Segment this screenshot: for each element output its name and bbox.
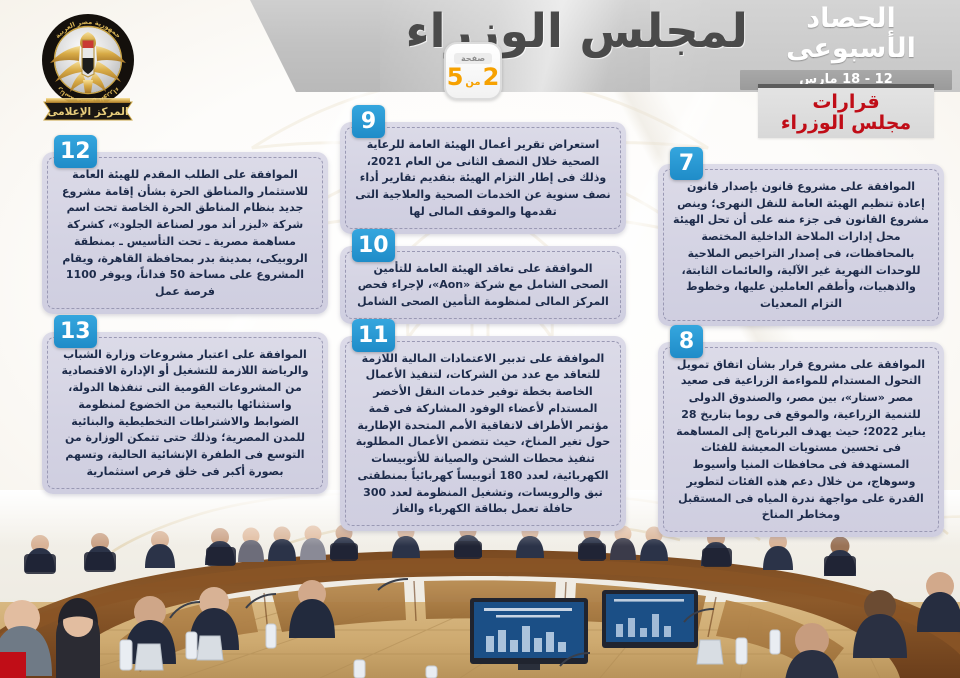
card-number-badge: 7 — [670, 147, 703, 180]
decision-card-9[interactable]: 9 استعراض تقرير أعمال الهيئة العامة للرع… — [340, 122, 626, 234]
weekly-title-line2: الأسبوعى — [756, 34, 946, 64]
card-body-text: الموافقة على تدبير الاعتمادات المالية ال… — [354, 351, 612, 518]
decision-card-13[interactable]: 13 الموافقة على اعتبار مشروعات وزارة الش… — [42, 332, 328, 494]
page-number-badge: صفحة 2 من 5 — [444, 42, 502, 100]
cards-column-middle: 9 استعراض تقرير أعمال الهيئة العامة للرع… — [340, 122, 626, 531]
decision-card-12[interactable]: 12 الموافقة على الطلب المقدم للهيئة العا… — [42, 152, 328, 314]
section-title-line1: قرارات — [812, 92, 879, 113]
card-number-badge: 10 — [352, 229, 395, 262]
weekly-title: الحصاد الأسبوعى — [756, 4, 946, 64]
cards-column-left: 12 الموافقة على الطلب المقدم للهيئة العا… — [42, 152, 328, 494]
card-number-badge: 12 — [54, 135, 97, 168]
decision-card-8[interactable]: 8 الموافقة على مشروع قرار بشأن اتفاق تمو… — [658, 342, 944, 537]
section-title-line2: مجلس الوزراء — [781, 113, 911, 134]
cards-column-right: 7 الموافقة على مشروع قانون بإصدار قانون … — [658, 164, 944, 537]
card-body-text: الموافقة على تعاقد الهيئة العامة للتأمين… — [354, 261, 612, 311]
page-badge-of: من — [465, 78, 480, 88]
page-badge-total: 5 — [447, 65, 464, 89]
card-body-text: الموافقة على مشروع قرار بشأن اتفاق تمويل… — [672, 357, 930, 524]
decision-card-11[interactable]: 11 الموافقة على تدبير الاعتمادات المالية… — [340, 336, 626, 531]
svg-text:المركز الإعلامى: المركز الإعلامى — [47, 106, 128, 118]
card-body-text: الموافقة على الطلب المقدم للهيئة العامة … — [56, 167, 314, 301]
page-badge-current: 2 — [483, 65, 500, 89]
infographic-page: الحصاد الأسبوعى لمجلس الوزراء 12 - 18 ما… — [0, 0, 960, 678]
page-badge-numbers: 2 من 5 — [447, 65, 500, 89]
card-number-badge: 11 — [352, 319, 395, 352]
weekly-title-line1: الحصاد — [756, 4, 946, 34]
section-title-box: قرارات مجلس الوزراء — [758, 84, 934, 138]
cabinet-media-center-logo: جمهورية مصر العربية رئاسة مجلس الوزراء ا… — [32, 8, 144, 126]
card-body-text: الموافقة على اعتبار مشروعات وزارة الشباب… — [56, 347, 314, 481]
decision-card-7[interactable]: 7 الموافقة على مشروع قانون بإصدار قانون … — [658, 164, 944, 326]
card-body-text: الموافقة على مشروع قانون بإصدار قانون إع… — [672, 179, 930, 313]
card-number-badge: 8 — [670, 325, 703, 358]
corner-accent — [0, 652, 26, 678]
card-body-text: استعراض تقرير أعمال الهيئة العامة للرعاي… — [354, 137, 612, 221]
card-number-badge: 13 — [54, 315, 97, 348]
decision-card-10[interactable]: 10 الموافقة على تعاقد الهيئة العامة للتأ… — [340, 246, 626, 324]
